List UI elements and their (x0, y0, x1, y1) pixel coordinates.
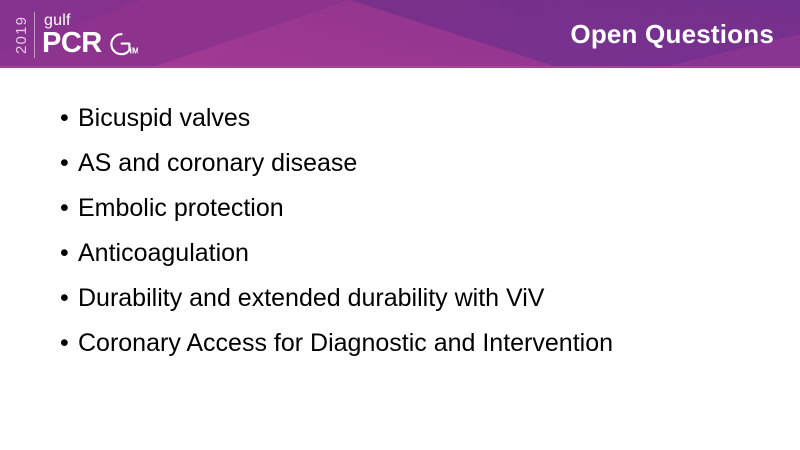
logo-im-text: iM (129, 45, 137, 55)
slide-header-banner: 2019 gulf PCR iM Open Questions (0, 0, 800, 68)
list-item: • Anticoagulation (60, 231, 760, 276)
list-item-label: AS and coronary disease (78, 141, 357, 186)
logo-main-row: PCR iM (42, 30, 138, 57)
list-item: • AS and coronary disease (60, 141, 760, 186)
list-item-label: Coronary Access for Diagnostic and Inter… (78, 321, 613, 366)
list-item: • Embolic protection (60, 186, 760, 231)
bullet-dot-icon: • (60, 276, 78, 321)
list-item-label: Durability and extended durability with … (78, 276, 544, 321)
list-item: • Durability and extended durability wit… (60, 276, 760, 321)
list-item: • Bicuspid valves (60, 96, 760, 141)
list-item-label: Embolic protection (78, 186, 284, 231)
gulf-pcr-logo: 2019 gulf PCR iM (14, 6, 138, 64)
logo-pcr-text: PCR (42, 30, 102, 57)
logo-wordmark: gulf PCR iM (42, 13, 138, 57)
bullet-dot-icon: • (60, 231, 78, 276)
open-questions-bullet-list: • Bicuspid valves • AS and coronary dise… (60, 96, 760, 366)
bullet-dot-icon: • (60, 321, 78, 366)
slide-title: Open Questions (570, 0, 774, 68)
list-item-label: Anticoagulation (78, 231, 249, 276)
list-item: • Coronary Access for Diagnostic and Int… (60, 321, 760, 366)
slide-body: • Bicuspid valves • AS and coronary dise… (0, 68, 800, 450)
logo-year-label: 2019 (14, 9, 29, 61)
bullet-dot-icon: • (60, 96, 78, 141)
logo-im-circle-icon: iM (104, 31, 138, 57)
list-item-label: Bicuspid valves (78, 96, 250, 141)
bullet-dot-icon: • (60, 141, 78, 186)
logo-divider (34, 12, 35, 58)
presentation-slide: 2019 gulf PCR iM Open Questions (0, 0, 800, 450)
bullet-dot-icon: • (60, 186, 78, 231)
